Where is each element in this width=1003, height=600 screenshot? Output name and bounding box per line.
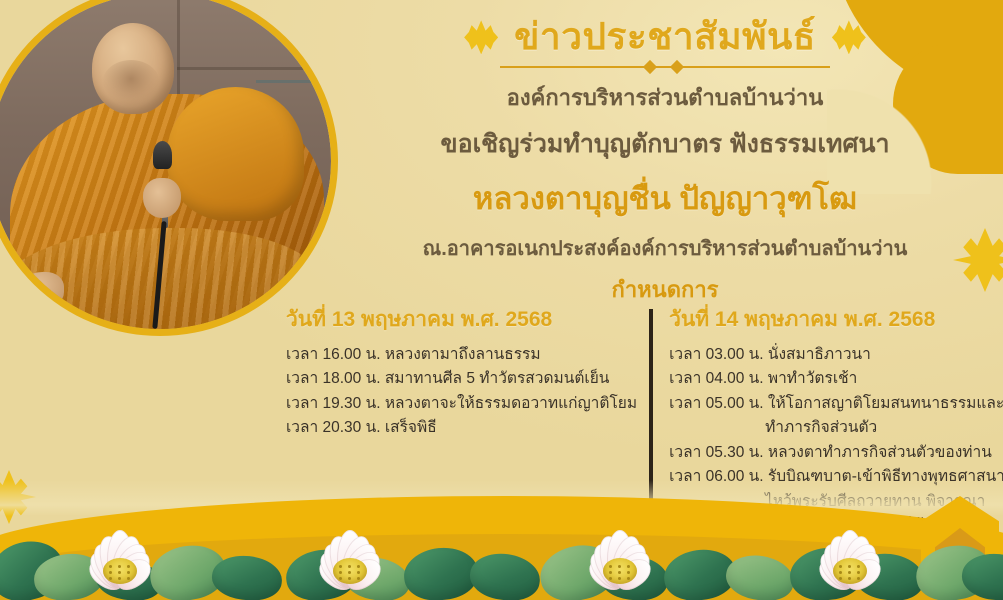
day2-date-label: วันที่ 14 พฤษภาคม พ.ศ. 2568 — [669, 303, 1003, 336]
schedule-item: เวลา 18.00 น. สมาทานศีล 5 ทำวัตรสวดมนต์เ… — [286, 367, 637, 391]
schedule-item: เวลา 03.00 น. นั่งสมาธิภาวนา — [669, 343, 1003, 367]
lotus-flower — [560, 514, 680, 600]
announcement-poster: ข่าวประชาสัมพันธ์ องค์การบริหารส่วนตำบลบ… — [0, 0, 1003, 600]
agenda-heading: กำหนดการ — [350, 272, 980, 307]
schedule-item: เวลา 19.30 น. หลวงตาจะให้ธรรมดอวาทแก่ญาต… — [286, 392, 637, 416]
schedule-item: เวลา 20.30 น. เสร็จพิธี — [286, 416, 637, 440]
schedule-item: เวลา 05.30 น. หลวงตาทำภารกิจส่วนตัวของท่… — [669, 441, 1003, 465]
schedule-item-continuation: ทำภารกิจส่วนตัว — [669, 416, 1003, 440]
lotus-center — [603, 558, 637, 584]
lotus-flower — [790, 514, 910, 600]
lotus-center — [833, 558, 867, 584]
monk-portrait — [0, 0, 338, 336]
floral-ornament-left-icon — [464, 20, 498, 54]
venue-text: ณ.อาคารอเนกประสงค์องค์การบริหารส่วนตำบลบ… — [350, 232, 980, 264]
title-row: ข่าวประชาสัมพันธ์ — [350, 18, 980, 57]
page-title: ข่าวประชาสัมพันธ์ — [514, 18, 816, 57]
schedule-item: เวลา 05.00 น. ให้โอกาสญาติโยมสนทนาธรรมแล… — [669, 392, 1003, 441]
lotus-flower — [290, 514, 410, 600]
monk-name: หลวงตาบุญชื่น ปัญญาวุฑโฒ — [350, 173, 980, 223]
organization-name: องค์การบริหารส่วนตำบลบ้านว่าน — [350, 80, 980, 115]
schedule-column-day1: วันที่ 13 พฤษภาคม พ.ศ. 2568 เวลา 16.00 น… — [286, 303, 651, 441]
schedule-item: เวลา 16.00 น. หลวงตามาถึงลานธรรม — [286, 343, 637, 367]
lotus-center — [333, 558, 367, 584]
lotus-flower — [60, 514, 180, 600]
invitation-text: ขอเชิญร่วมทำบุญตักบาตร ฟังธรรมเทศนา — [350, 124, 980, 164]
lotus-center — [103, 558, 137, 584]
poster-header: ข่าวประชาสัมพันธ์ องค์การบริหารส่วนตำบลบ… — [350, 18, 980, 307]
flower-ornament-left-edge — [0, 470, 36, 524]
schedule-item: เวลา 04.00 น. พาทำวัตรเช้า — [669, 367, 1003, 391]
floral-ornament-right-icon — [832, 20, 866, 54]
day1-date-label: วันที่ 13 พฤษภาคม พ.ศ. 2568 — [286, 303, 637, 336]
title-underline — [500, 61, 830, 73]
